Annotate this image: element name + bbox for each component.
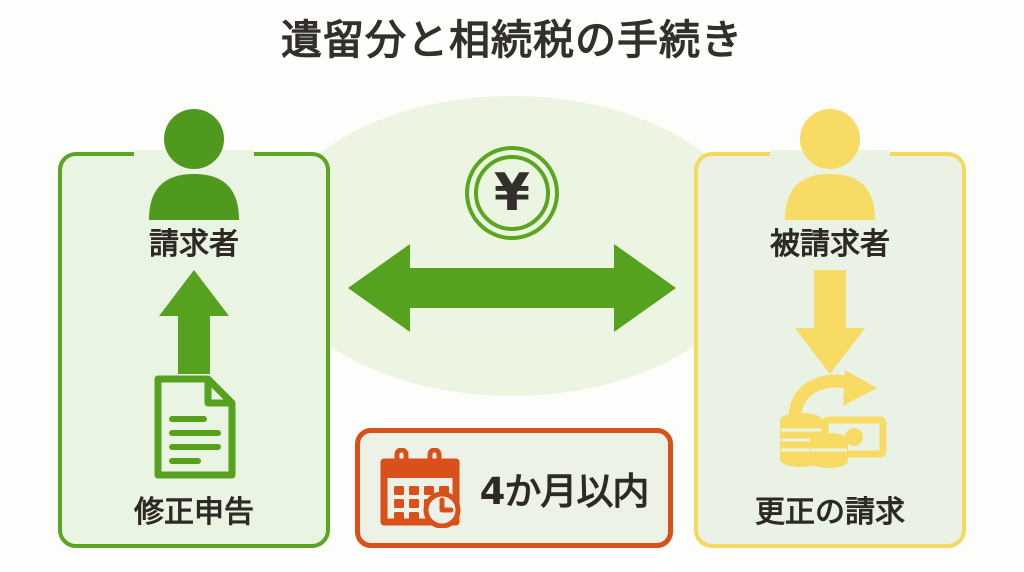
- double-headed-arrow-icon: [344, 238, 680, 338]
- deadline-box: 4か月以内: [355, 428, 673, 548]
- yen-coin-icon: ¥: [462, 143, 562, 243]
- person-icon: [129, 108, 259, 220]
- arrow-down-icon: [793, 268, 867, 376]
- page-title: 遺留分と相続税の手続き: [0, 16, 1024, 65]
- calendar-clock-icon: [380, 448, 466, 528]
- deadline-label: 4か月以内: [480, 461, 649, 515]
- right-foot-label: 更正の請求: [694, 487, 966, 531]
- right-role-label: 被請求者: [694, 219, 966, 263]
- arrow-up-icon: [157, 268, 231, 376]
- document-icon: [134, 375, 254, 479]
- left-foot-label: 修正申告: [58, 487, 330, 531]
- money-refund-icon: [773, 368, 893, 472]
- left-role-label: 請求者: [58, 219, 330, 263]
- person-icon: [765, 108, 895, 220]
- yen-symbol: ¥: [494, 163, 530, 223]
- infographic-canvas: 遺留分と相続税の手続き 請求者 修正申告: [0, 0, 1024, 572]
